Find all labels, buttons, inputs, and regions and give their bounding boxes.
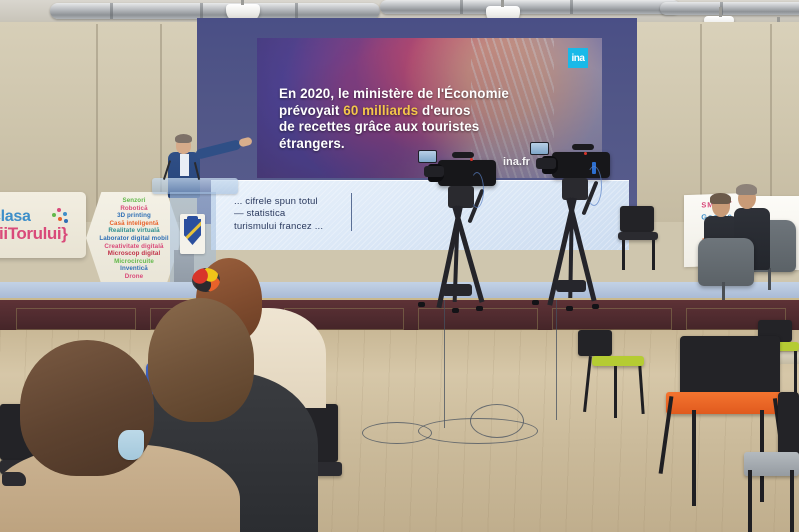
slide-text-line-3: de recettes grâce aux touristes: [279, 119, 579, 136]
banner-clasa-viitorului: clasa viiTorului}: [0, 192, 86, 258]
floor-cable-run: [556, 300, 559, 420]
hex-item: Inventică: [86, 265, 182, 273]
conference-hall-scene: ina En 2020, le ministère de l'Économie …: [0, 0, 799, 532]
speaker-hair: [175, 134, 192, 143]
stage-panel-inset: [552, 308, 672, 330]
tripod-foot: [476, 306, 483, 311]
caption-text: ... cifrele spun totul — statistica turi…: [234, 196, 323, 233]
tripod-foot: [452, 308, 459, 313]
chair-leg: [794, 351, 797, 395]
slide-text-line-2: prévoyait 60 milliards d'euros: [279, 103, 579, 120]
slide-text-line-2-pre: prévoyait: [279, 103, 343, 118]
camera-left-record-indicator: [470, 158, 473, 161]
stage-panel-inset: [16, 308, 136, 330]
hex-item: Drone: [86, 273, 182, 281]
audience-2-hair: [148, 298, 254, 422]
chair-leg: [652, 240, 655, 270]
caption-line-3: turismului francez ...: [234, 221, 323, 233]
hex-item: Casă inteligentă: [86, 220, 182, 228]
speaker-shirt: [180, 154, 189, 176]
banner-left-dots-icon: [52, 208, 68, 224]
banner-left-line-2: viiTorului}: [0, 224, 67, 244]
camera-left-lens-hood: [424, 166, 444, 177]
camera-left-lcd-screen[interactable]: [418, 150, 437, 163]
tripod-spreader: [442, 284, 472, 296]
hex-item: 3D printing: [86, 212, 182, 220]
camera-right-record-indicator: [584, 152, 587, 155]
chair-back: [620, 206, 654, 232]
stage-panel-inset: [418, 308, 538, 330]
tripod-foot: [566, 306, 573, 311]
chair-seat: [618, 232, 658, 240]
seated-man-1-hair: [710, 193, 731, 204]
camera-left-cable: [470, 172, 484, 208]
wall-right: [620, 22, 799, 222]
ceiling-duct: [660, 2, 799, 15]
audience-1-face-mask: [118, 430, 144, 460]
caption-divider: [351, 193, 352, 231]
hex-item: Creativitate digitală: [86, 243, 182, 251]
wall-seam: [700, 24, 702, 220]
hex-item: Robotică: [86, 205, 182, 213]
camera-right-body: [552, 152, 610, 178]
armchair-grey: [698, 238, 754, 286]
wall-seam: [770, 24, 772, 220]
armchair-leg: [722, 282, 725, 300]
camera-right-lcd-screen[interactable]: [530, 142, 549, 155]
caption-line-2: — statistica: [234, 208, 323, 220]
chair-back: [680, 336, 780, 396]
tripod-foot: [592, 304, 599, 309]
slide-text-highlight: 60 milliards: [343, 103, 418, 118]
floor-cable-run: [444, 300, 447, 428]
hex-topics-list: Senzori Robotică 3D printing Casă inteli…: [86, 197, 182, 281]
caption-line-1: ... cifrele spun totul: [234, 196, 323, 208]
seated-man-2-hair: [736, 184, 757, 195]
ceiling-duct: [380, 0, 680, 14]
chair-leg: [622, 240, 625, 270]
hexagonal-topics-sign: Senzori Robotică 3D printing Casă inteli…: [86, 192, 182, 284]
hex-item: Laborator digital mobil: [86, 235, 182, 243]
wall-seam: [96, 24, 98, 220]
lectern-glass-top: [152, 178, 238, 194]
slide-text-line-1: En 2020, le ministère de l'Économie: [279, 86, 579, 103]
hex-item: Microcircuite: [86, 258, 182, 266]
tripod-spreader: [556, 280, 586, 292]
chair-seat: [592, 356, 644, 366]
camera-right-lens-hood: [536, 158, 556, 169]
ina-logo-badge: ina: [568, 48, 588, 68]
chair-leg: [748, 470, 752, 532]
chair-leg: [692, 410, 696, 506]
camera-right-tripod-head[interactable]: [562, 178, 588, 200]
hex-item: Senzori: [86, 197, 182, 205]
camera-right-microphone: [572, 144, 594, 150]
hex-item: Realitate virtuală: [86, 227, 182, 235]
institution-crest-emblem: [180, 214, 205, 254]
tripod-foot: [418, 302, 425, 307]
ina-watermark: ina.fr: [503, 156, 530, 168]
audience-3-scrunchie: [192, 268, 220, 292]
floor-cable-loop: [470, 404, 524, 438]
camera-right-cable: [586, 166, 602, 206]
camera-left-body: [438, 160, 496, 186]
slide-text-line-2-post: d'euros: [418, 103, 470, 118]
armchair-leg: [768, 268, 771, 290]
shoe-on-floor: [2, 472, 26, 486]
chair-seat: [666, 392, 782, 414]
chair-leg: [614, 366, 617, 418]
tripod-foot: [532, 300, 539, 305]
ceiling-duct: [50, 3, 380, 19]
chair-leg: [790, 470, 794, 532]
hex-item: Microscop digital: [86, 250, 182, 258]
chair-back: [578, 330, 612, 356]
